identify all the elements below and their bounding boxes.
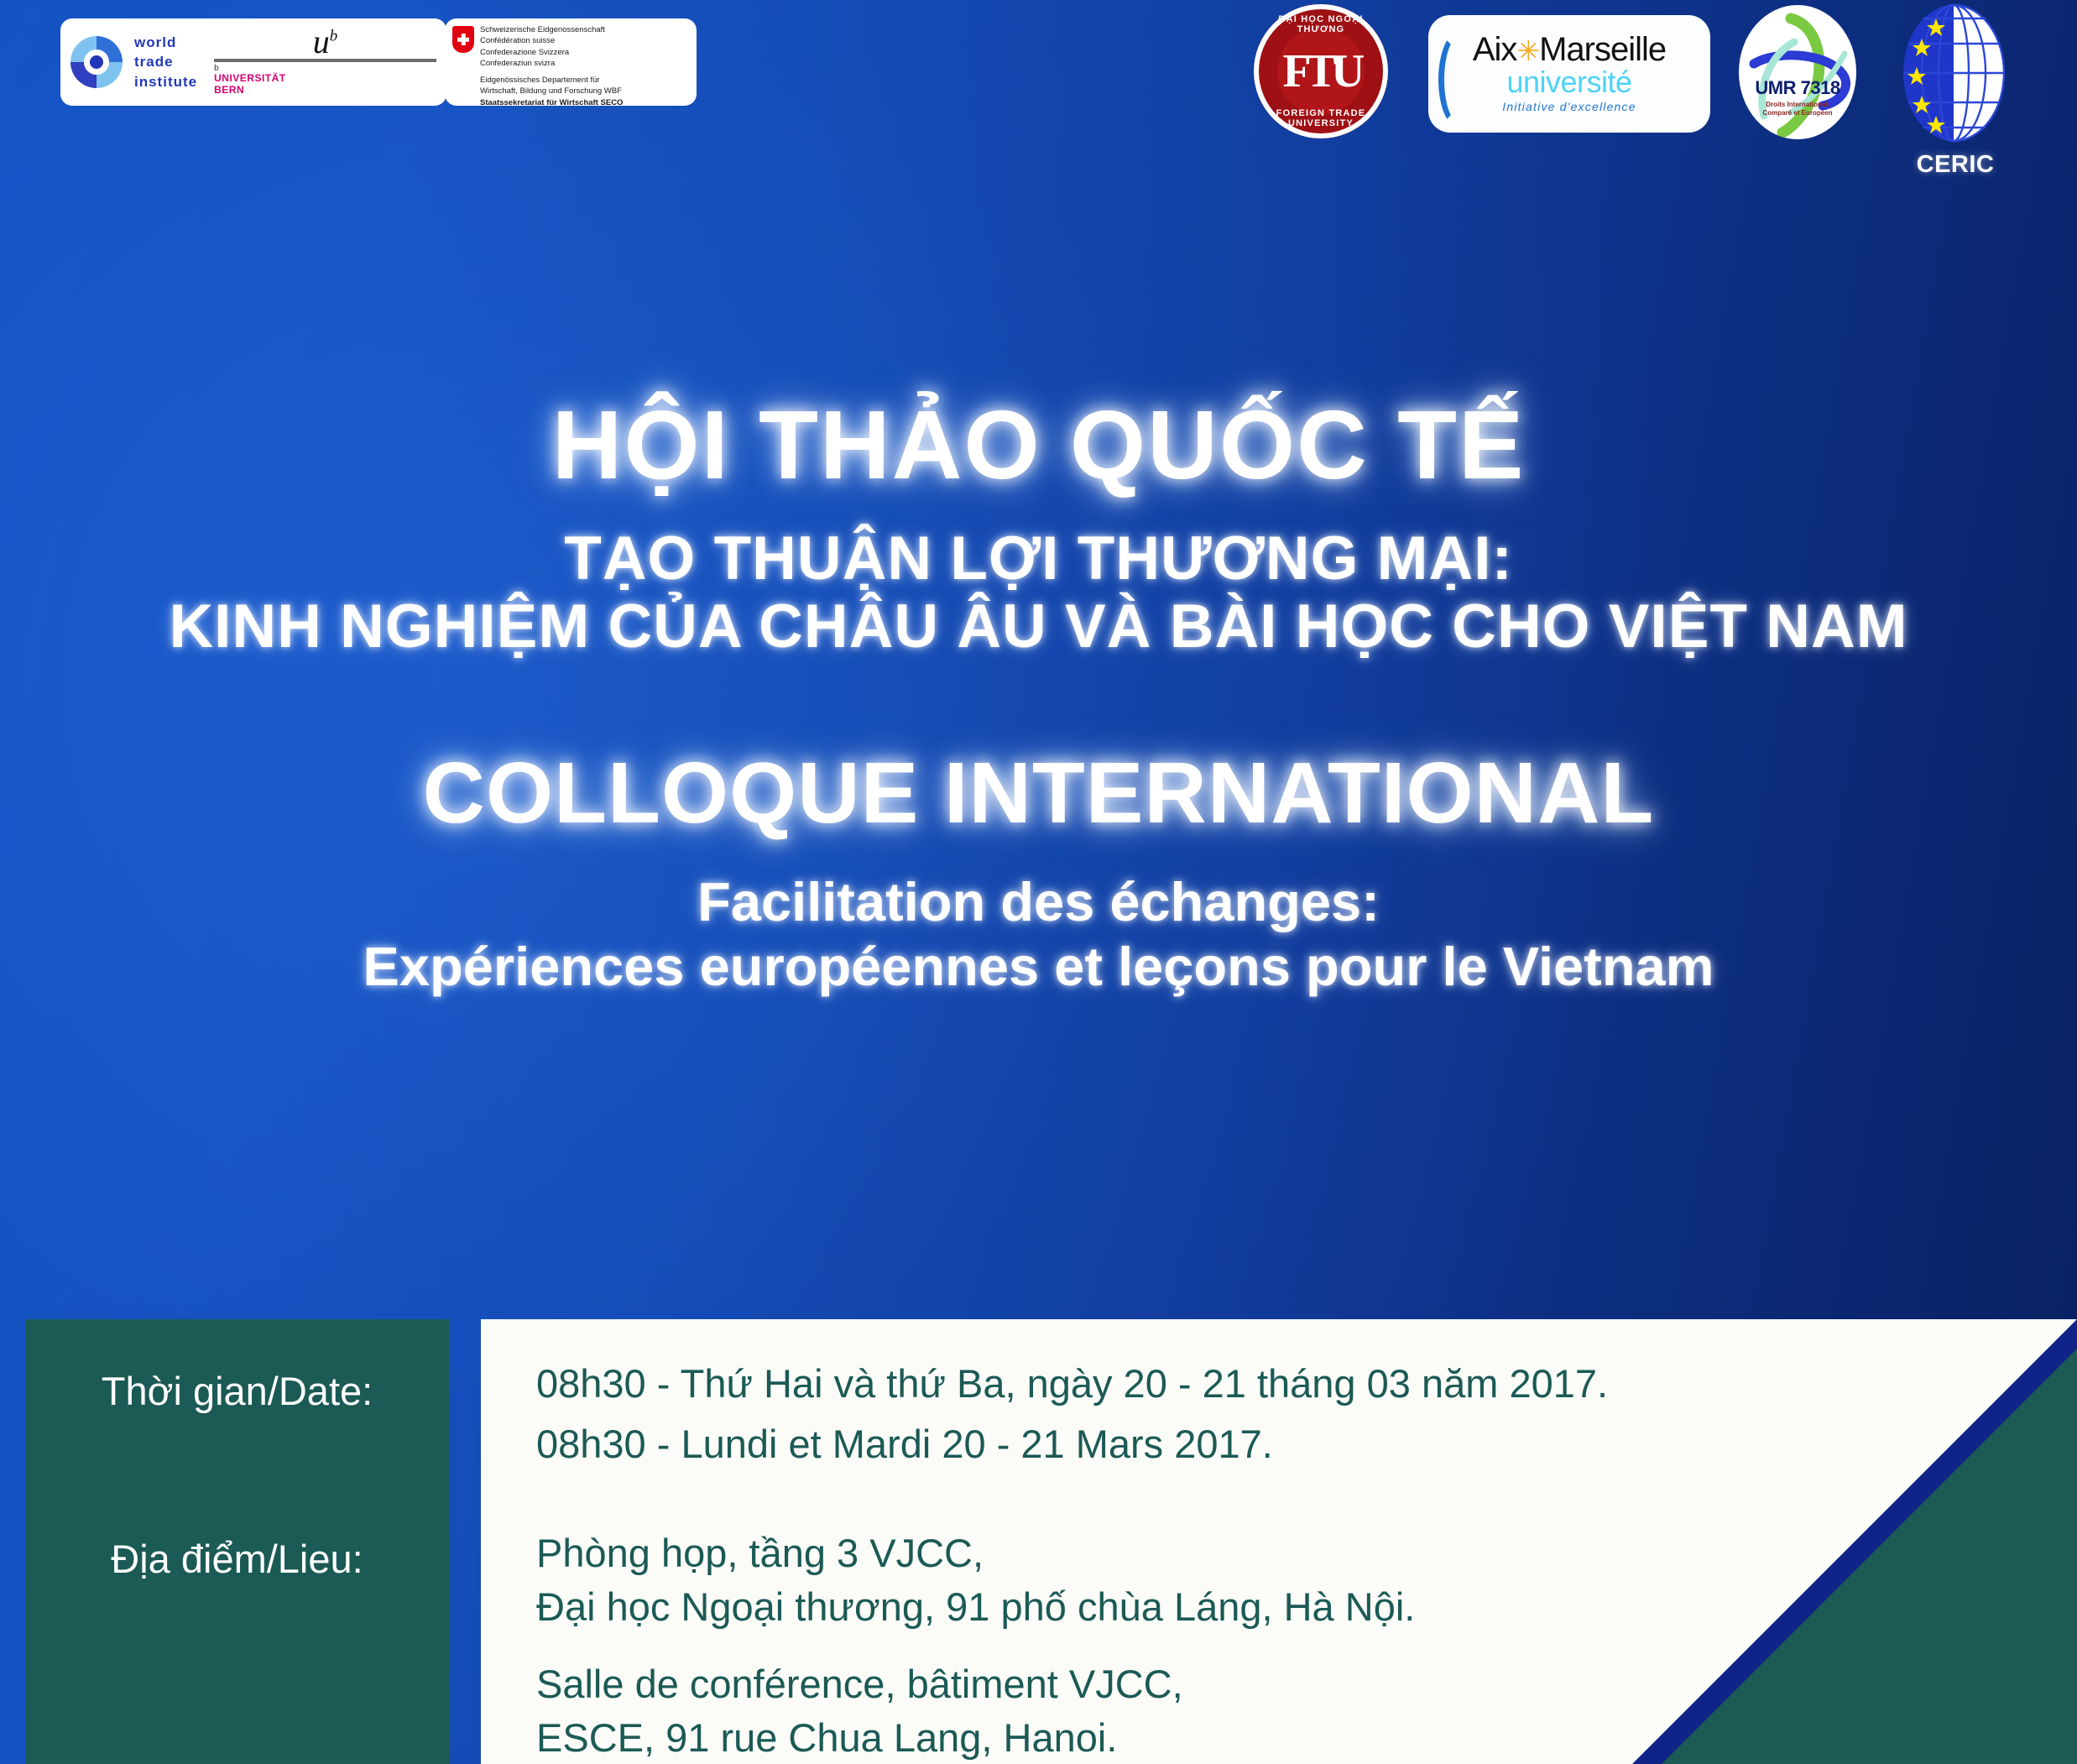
bern-university-label: UNIVERSITÄT BERN: [214, 73, 436, 97]
french-subtitle-line1: Facilitation des échanges:: [0, 870, 2077, 935]
wti-wordmark: world trade institute: [134, 33, 197, 91]
wti-word-line2: trade: [134, 52, 197, 71]
wti-word-line3: institute: [134, 72, 197, 91]
seco-line-rm: Confederaziun svizra: [480, 58, 623, 69]
seco-dept-line3: Staatssekretariat für Wirtschaft SECO: [480, 97, 623, 108]
amu-universite-text: université: [1506, 66, 1631, 98]
logo-umr-7318: UMR 7318 Droits International, Comparé e…: [1739, 5, 1856, 139]
amu-marseille-text: Marseille: [1539, 31, 1666, 68]
venue-line-vietnamese-2: Đại học Ngoại thương, 91 phố chùa Láng, …: [536, 1581, 1415, 1633]
umr-subtitle-line2: Comparé et Européen: [1739, 109, 1856, 117]
seco-text-block: Schweizerische Eidgenossenschaft Confédé…: [480, 24, 623, 108]
logo-foreign-trade-university: ĐẠI HỌC NGOẠI THƯƠNG FTU FOREIGN TRADE U…: [1254, 4, 1388, 138]
ftu-vietnamese-name: ĐẠI HỌC NGOẠI THƯƠNG: [1254, 14, 1388, 34]
vietnamese-subtitle-line2: KINH NGHIỆM CỦA CHÂU ÂU VÀ BÀI HỌC CHO V…: [0, 592, 2077, 661]
umr-subtitle-line1: Droits International,: [1739, 101, 1856, 109]
seco-line-fr: Confédération suisse: [480, 35, 623, 46]
logo-aix-marseille-universite: Aix✳Marseille université Initiative d'ex…: [1428, 15, 1710, 133]
french-subtitle-line2: Expériences européennes et leçons pour l…: [0, 935, 2077, 999]
label-venue: Địa điểm/Lieu:: [25, 1536, 449, 1582]
ftu-english-name: FOREIGN TRADE UNIVERSITY: [1254, 108, 1388, 128]
bern-universitaet-text: UNIVERSITÄT: [214, 73, 436, 85]
umr-subtitle: Droits International, Comparé et Europée…: [1739, 101, 1856, 118]
wti-word-line1: world: [134, 33, 197, 52]
seco-line-it: Confederazione Svizzera: [480, 47, 623, 58]
label-date: Thời gian/Date:: [25, 1368, 449, 1414]
vietnamese-subtitle-line1: TẠO THUẬN LỢI THƯƠNG MẠI:: [0, 525, 2077, 593]
details-label-column: Thời gian/Date: Địa điểm/Lieu:: [25, 1319, 449, 1764]
ceric-label: CERIC: [1880, 151, 2031, 179]
sponsor-logo-bar: world trade institute ub b UNIVERSITÄT B…: [0, 0, 2077, 193]
logo-swiss-confederation-seco: Schweizerische Eidgenossenschaft Confédé…: [445, 18, 697, 106]
title-block: HỘI THẢO QUỐC TẾ TẠO THUẬN LỢI THƯƠNG MẠ…: [0, 394, 2077, 999]
corner-teal-wedge: [1662, 1349, 2077, 1764]
umr-swirl-icon: [1739, 5, 1856, 139]
umr-code-text: UMR 7318: [1739, 79, 1856, 97]
date-line-vietnamese: 08h30 - Thứ Hai và thứ Ba, ngày 20 - 21 …: [536, 1358, 1608, 1410]
seco-dept-line2: Wirtschaft, Bildung und Forschung WBF: [480, 86, 623, 97]
details-content-column: 08h30 - Thứ Hai và thứ Ba, ngày 20 - 21 …: [481, 1319, 2077, 1764]
venue-line-french-1: Salle de conférence, bâtiment VJCC,: [536, 1658, 1183, 1710]
bern-city-text: BERN: [214, 85, 436, 97]
swiss-cross-shield-icon: [452, 26, 474, 53]
ftu-monogram-icon: FTU: [1283, 48, 1359, 95]
amu-wordmark-primary: Aix✳Marseille: [1473, 33, 1666, 66]
amu-arc-icon: [1438, 32, 1479, 128]
logo-ceric-globe-icon: [1902, 3, 2006, 143]
venue-line-french-2: ESCE, 91 rue Chua Lang, Hanoi.: [536, 1712, 1117, 1764]
date-line-french: 08h30 - Lundi et Mardi 20 - 21 Mars 2017…: [536, 1418, 1273, 1470]
conference-poster: world trade institute ub b UNIVERSITÄT B…: [0, 0, 2077, 1764]
ftu-inner-disc: FTU: [1277, 28, 1365, 115]
venue-line-vietnamese-1: Phòng họp, tầng 3 VJCC,: [536, 1527, 984, 1579]
seco-dept-line1: Eidgenössisches Departement für: [480, 75, 623, 86]
amu-aix-text: Aix: [1473, 31, 1517, 68]
event-details-panel: Thời gian/Date: Địa điểm/Lieu: 08h30 - T…: [0, 1319, 2077, 1764]
logo-world-trade-institute-bern: world trade institute ub b UNIVERSITÄT B…: [60, 18, 446, 106]
universitaet-bern-mark: ub b UNIVERSITÄT BERN: [209, 28, 436, 97]
french-main-title: COLLOQUE INTERNATIONAL: [0, 747, 2077, 838]
amu-star-icon: ✳: [1516, 35, 1539, 66]
vietnamese-main-title: HỘI THẢO QUỐC TẾ: [0, 394, 2077, 496]
world-trade-institute-ring-icon: [70, 36, 123, 88]
amu-tagline: Initiative d'excellence: [1502, 100, 1636, 113]
bern-ub-glyph: ub: [214, 28, 436, 56]
seco-line-de: Schweizerische Eidgenossenschaft: [480, 24, 623, 35]
